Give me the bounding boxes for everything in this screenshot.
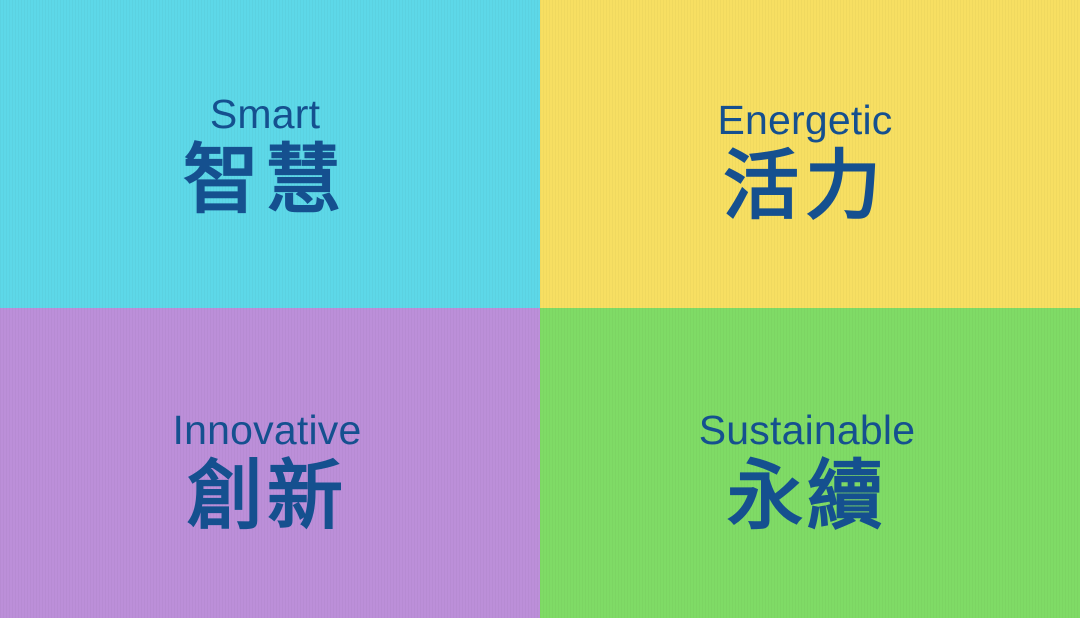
quadrant-smart-label-zh: 智慧 [183, 142, 347, 218]
quadrant-innovative-label-zh: 創新 [187, 458, 347, 534]
quadrant-sustainable-label-en: Sustainable [699, 409, 915, 452]
brand-values-canvas: Smart 智慧 Energetic 活力 Innovative 創新 Sust… [0, 0, 1080, 618]
quadrant-energetic[interactable]: Energetic 活力 [540, 0, 1080, 308]
quadrant-innovative-text-block: Innovative 創新 [173, 308, 362, 534]
quadrant-energetic-label-zh: 活力 [723, 148, 887, 224]
quadrant-sustainable-text-block: Sustainable 永續 [699, 308, 915, 534]
quadrant-grid: Smart 智慧 Energetic 活力 Innovative 創新 Sust… [0, 0, 1080, 618]
quadrant-smart-label-en: Smart [210, 93, 320, 136]
quadrant-sustainable-label-zh: 永續 [727, 458, 887, 534]
quadrant-smart-text-block: Smart 智慧 [183, 0, 347, 218]
quadrant-smart[interactable]: Smart 智慧 [0, 0, 540, 308]
quadrant-energetic-text-block: Energetic 活力 [717, 0, 892, 224]
quadrant-sustainable[interactable]: Sustainable 永續 [540, 308, 1080, 618]
quadrant-innovative[interactable]: Innovative 創新 [0, 308, 540, 618]
quadrant-innovative-label-en: Innovative [173, 409, 362, 452]
quadrant-energetic-label-en: Energetic [717, 99, 892, 142]
